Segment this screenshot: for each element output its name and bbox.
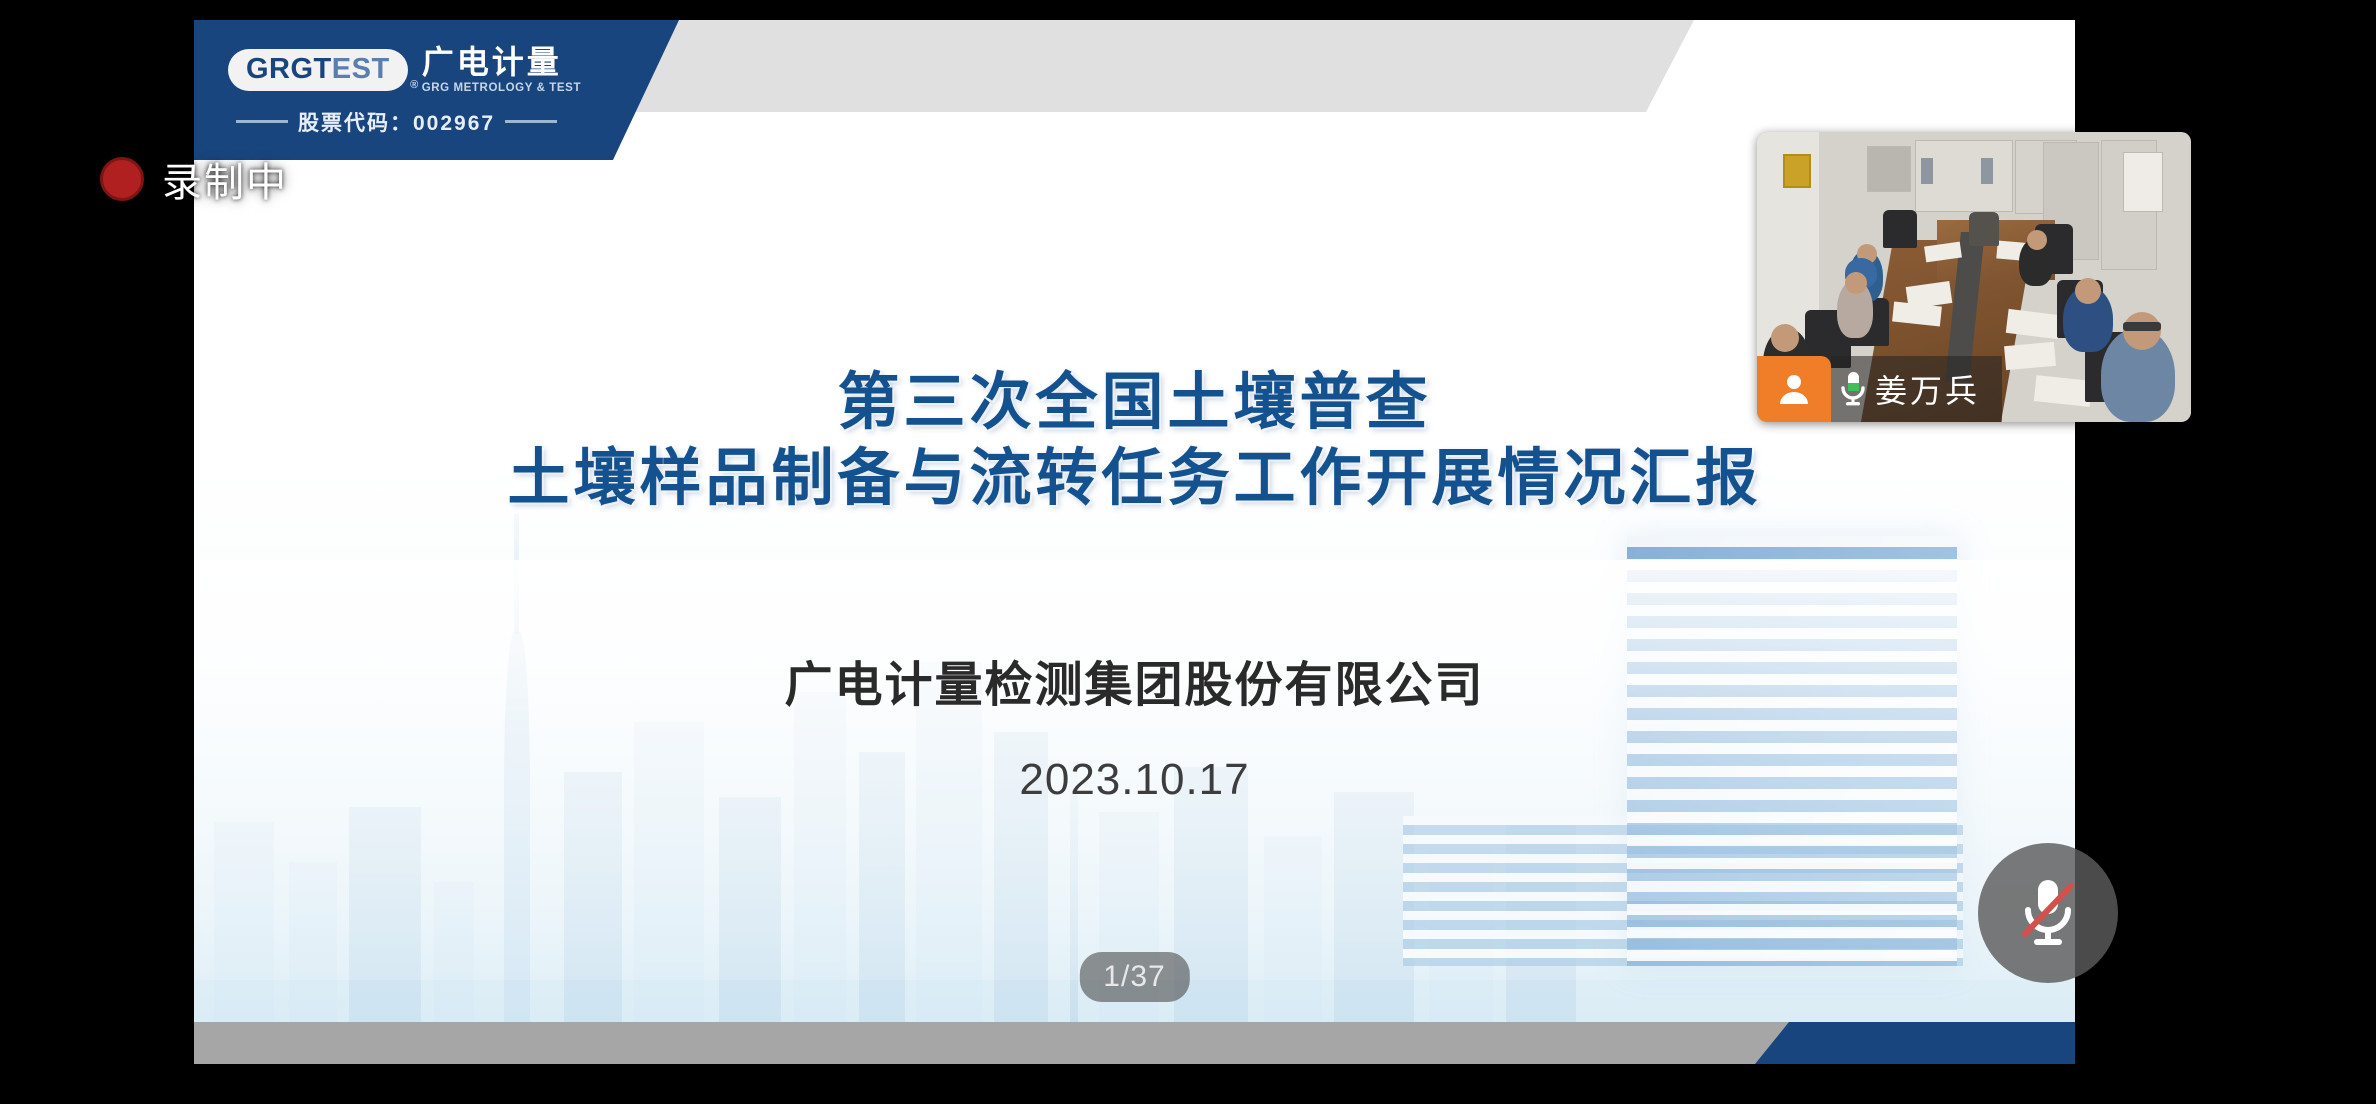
- participant-name: 姜万兵: [1875, 366, 1980, 412]
- stock-code-row: 股票代码：002967: [228, 107, 557, 137]
- microphone-icon: [1839, 369, 1867, 409]
- participant-name-bar: 姜万兵: [1831, 356, 2002, 422]
- rule-left-decoration: [236, 120, 288, 123]
- participant-video-tile[interactable]: 姜万兵: [1757, 132, 2191, 422]
- mute-toggle-button[interactable]: [1978, 843, 2118, 983]
- brand-name-en: GRG METROLOGY & TEST: [422, 82, 581, 94]
- brand-logo: GRGTEST ® 广电计量 GRG METROLOGY & TEST 股票代码…: [228, 46, 581, 137]
- logo-text-light: EST: [332, 53, 390, 85]
- stock-code-text: 股票代码：002967: [298, 107, 495, 137]
- slide-footer-bar-blue: [1755, 1022, 2075, 1064]
- logo-text-strong: GRGT: [246, 53, 332, 85]
- slide-footer-bar-gray: [194, 1022, 1894, 1064]
- slide-date: 2023.10.17: [194, 755, 2075, 805]
- host-badge: [1757, 356, 1831, 422]
- microphone-muted-icon: [2011, 872, 2085, 954]
- recording-dot-icon: [100, 157, 144, 201]
- brand-name-cn: 广电计量: [422, 46, 581, 80]
- rule-right-decoration: [505, 120, 557, 123]
- header-banner-gray: [494, 20, 1694, 112]
- header-banner-blue: GRGTEST ® 广电计量 GRG METROLOGY & TEST 股票代码…: [194, 20, 679, 160]
- page-indicator: 1/37: [1079, 952, 1189, 1002]
- recording-label: 录制中: [162, 150, 288, 208]
- page-title-line-2: 土壤样品制备与流转任务工作开展情况汇报: [194, 441, 2075, 517]
- user-icon: [1776, 371, 1812, 407]
- meeting-screen-share-view: 录制中: [0, 0, 2376, 1104]
- city-skyline-illustration: [194, 462, 2075, 1022]
- recording-indicator: 录制中: [100, 150, 288, 208]
- registered-mark-icon: ®: [410, 80, 419, 91]
- grgtest-logo-pill: GRGTEST ®: [228, 49, 408, 91]
- slide-subtitle-company: 广电计量检测集团股份有限公司: [194, 645, 2075, 715]
